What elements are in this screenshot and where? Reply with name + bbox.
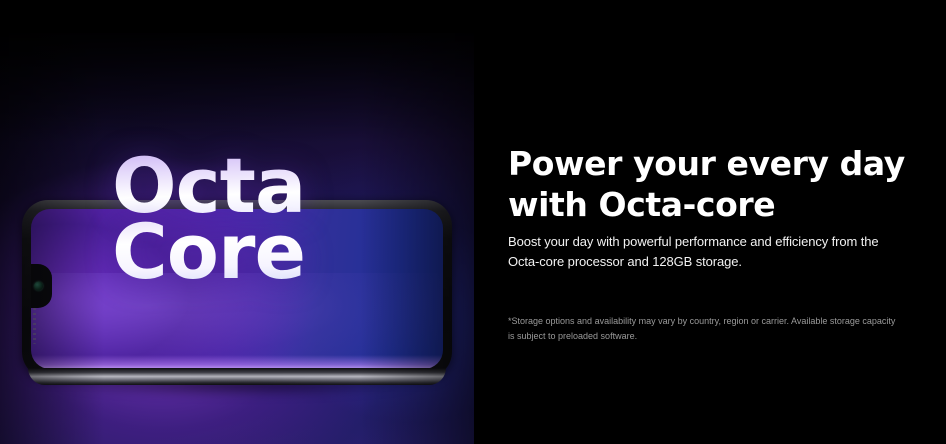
- screen-glow: [31, 273, 443, 369]
- phone-drop-shadow: [40, 382, 434, 398]
- page-title: Power your every day with Octa-core: [508, 144, 908, 226]
- product-visual-panel: Octa Core: [0, 33, 474, 444]
- waterdrop-notch: [31, 264, 52, 308]
- front-camera-icon: [34, 281, 43, 290]
- phone-screen: [31, 209, 443, 369]
- smartphone-device: [22, 200, 452, 396]
- earpiece-grille: [33, 308, 36, 344]
- headline-line-2: with Octa-core: [508, 185, 775, 224]
- screen-bottom-sheen: [31, 355, 443, 369]
- promo-banner: Octa Core Power your every day with Octa…: [0, 0, 946, 444]
- panel-top-vignette: [0, 33, 474, 143]
- headline-line-1: Power your every day: [508, 144, 905, 183]
- disclaimer-text: *Storage options and availability may va…: [508, 314, 904, 343]
- body-copy: Boost your day with powerful performance…: [508, 232, 902, 272]
- copy-panel: Power your every day with Octa-core Boos…: [508, 0, 908, 444]
